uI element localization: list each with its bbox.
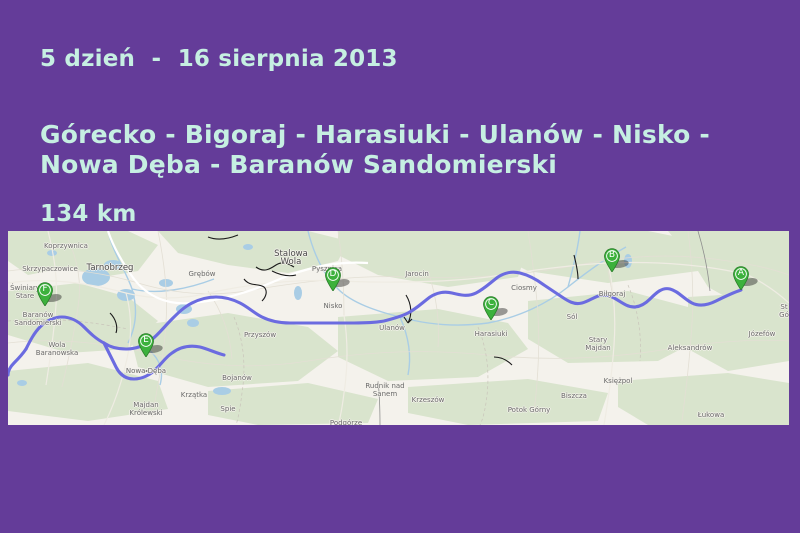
- marker-pin-icon: [733, 266, 750, 290]
- slide-root: 5 dzień - 16 sierpnia 2013 Górecko - Big…: [0, 0, 800, 533]
- map-marker-d[interactable]: D: [325, 267, 342, 291]
- marker-pin-icon: [138, 333, 155, 357]
- route-map[interactable]: .land { fill:#f4f2ec; } .forest { fill:#…: [8, 231, 789, 425]
- map-marker-b[interactable]: B: [604, 248, 621, 272]
- map-canvas: .land { fill:#f4f2ec; } .forest { fill:#…: [8, 231, 789, 425]
- distance-label: 134 km: [40, 201, 136, 227]
- marker-pin-icon: [604, 248, 621, 272]
- marker-pin-icon: [37, 282, 54, 306]
- route-subtitle-line-2: Nowa Dęba - Baranów Sandomierski: [40, 150, 557, 179]
- map-marker-c[interactable]: C: [483, 296, 500, 320]
- map-marker-f[interactable]: F: [37, 282, 54, 306]
- marker-pin-icon: [325, 267, 342, 291]
- page-title: 5 dzień - 16 sierpnia 2013: [40, 46, 398, 72]
- map-marker-e[interactable]: E: [138, 333, 155, 357]
- route-subtitle-line-1: Górecko - Bigoraj - Harasiuki - Ulanów -…: [40, 120, 710, 149]
- marker-pin-icon: [483, 296, 500, 320]
- map-base-layer: .land { fill:#f4f2ec; } .forest { fill:#…: [8, 231, 789, 425]
- map-marker-a[interactable]: A: [733, 266, 750, 290]
